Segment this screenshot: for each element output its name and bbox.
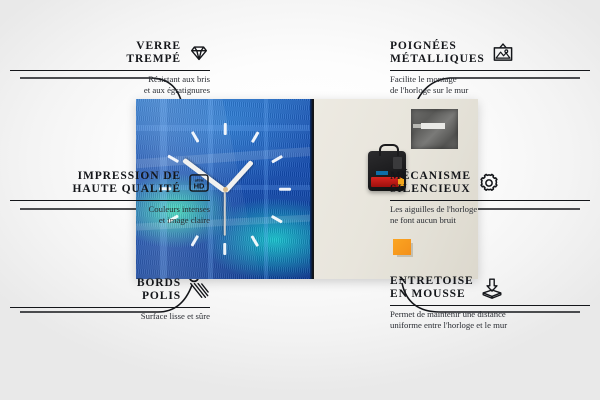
clock-center-pin bbox=[223, 187, 228, 192]
callout-title: ENTRETOISE EN MOUSSE bbox=[390, 275, 474, 301]
callout-rule bbox=[10, 307, 210, 308]
callout-mecanisme-silencieux: MÉCANISME SILENCIEUX Les aiguilles de l'… bbox=[390, 170, 590, 226]
callout-verre-trempe: VERRE TREMPÉ Résistant aux bris et aux é… bbox=[10, 40, 210, 96]
callout-title: BORDS POLIS bbox=[137, 277, 181, 303]
callout-subtitle: Couleurs intenses et image claire bbox=[10, 204, 210, 225]
callout-subtitle: Résistant aux bris et aux égratignures bbox=[10, 74, 210, 95]
callout-title: VERRE TREMPÉ bbox=[126, 40, 181, 66]
callout-poignees-metalliques: POIGNÉES MÉTALLIQUES Facilite le montage… bbox=[390, 40, 590, 96]
callout-rule bbox=[10, 200, 210, 201]
clock-second-hand bbox=[224, 190, 226, 236]
metal-hanger-bracket bbox=[411, 109, 458, 149]
callout-subtitle: Surface lisse et sûre bbox=[10, 311, 210, 322]
callout-title: POIGNÉES MÉTALLIQUES bbox=[390, 40, 485, 66]
callout-rule bbox=[390, 305, 590, 306]
callout-entretoise-en-mousse: ENTRETOISE EN MOUSSE Permet de maintenir… bbox=[390, 275, 590, 331]
polished-edges-icon bbox=[188, 279, 210, 301]
callout-title: MÉCANISME SILENCIEUX bbox=[390, 170, 471, 196]
foam-spacer-arrow-icon bbox=[481, 277, 503, 299]
callout-rule bbox=[10, 70, 210, 71]
svg-text:HD: HD bbox=[194, 182, 205, 191]
diamond-icon bbox=[188, 42, 210, 64]
callout-impression-haute-qualite: IMPRESSION DE HAUTE QUALITÉ ultra HD Cou… bbox=[10, 170, 210, 226]
gear-icon bbox=[478, 172, 500, 194]
callout-title: IMPRESSION DE HAUTE QUALITÉ bbox=[72, 170, 181, 196]
callout-rule bbox=[390, 200, 590, 201]
picture-frame-hanger-icon bbox=[492, 42, 514, 64]
callout-subtitle: Facilite le montage de l'horloge sur le … bbox=[390, 74, 590, 95]
callout-rule bbox=[390, 70, 590, 71]
ultra-hd-badge-icon: ultra HD bbox=[188, 172, 210, 194]
callout-bords-polis: BORDS POLIS Surface lisse et sûre bbox=[10, 277, 210, 322]
clock-hour-hand bbox=[223, 160, 253, 193]
callout-subtitle: Les aiguilles de l'horloge ne font aucun… bbox=[390, 204, 590, 225]
foam-spacer bbox=[393, 239, 411, 255]
infographic-canvas: VERRE TREMPÉ Résistant aux bris et aux é… bbox=[0, 0, 600, 400]
callout-subtitle: Permet de maintenir une distance uniform… bbox=[390, 309, 590, 330]
